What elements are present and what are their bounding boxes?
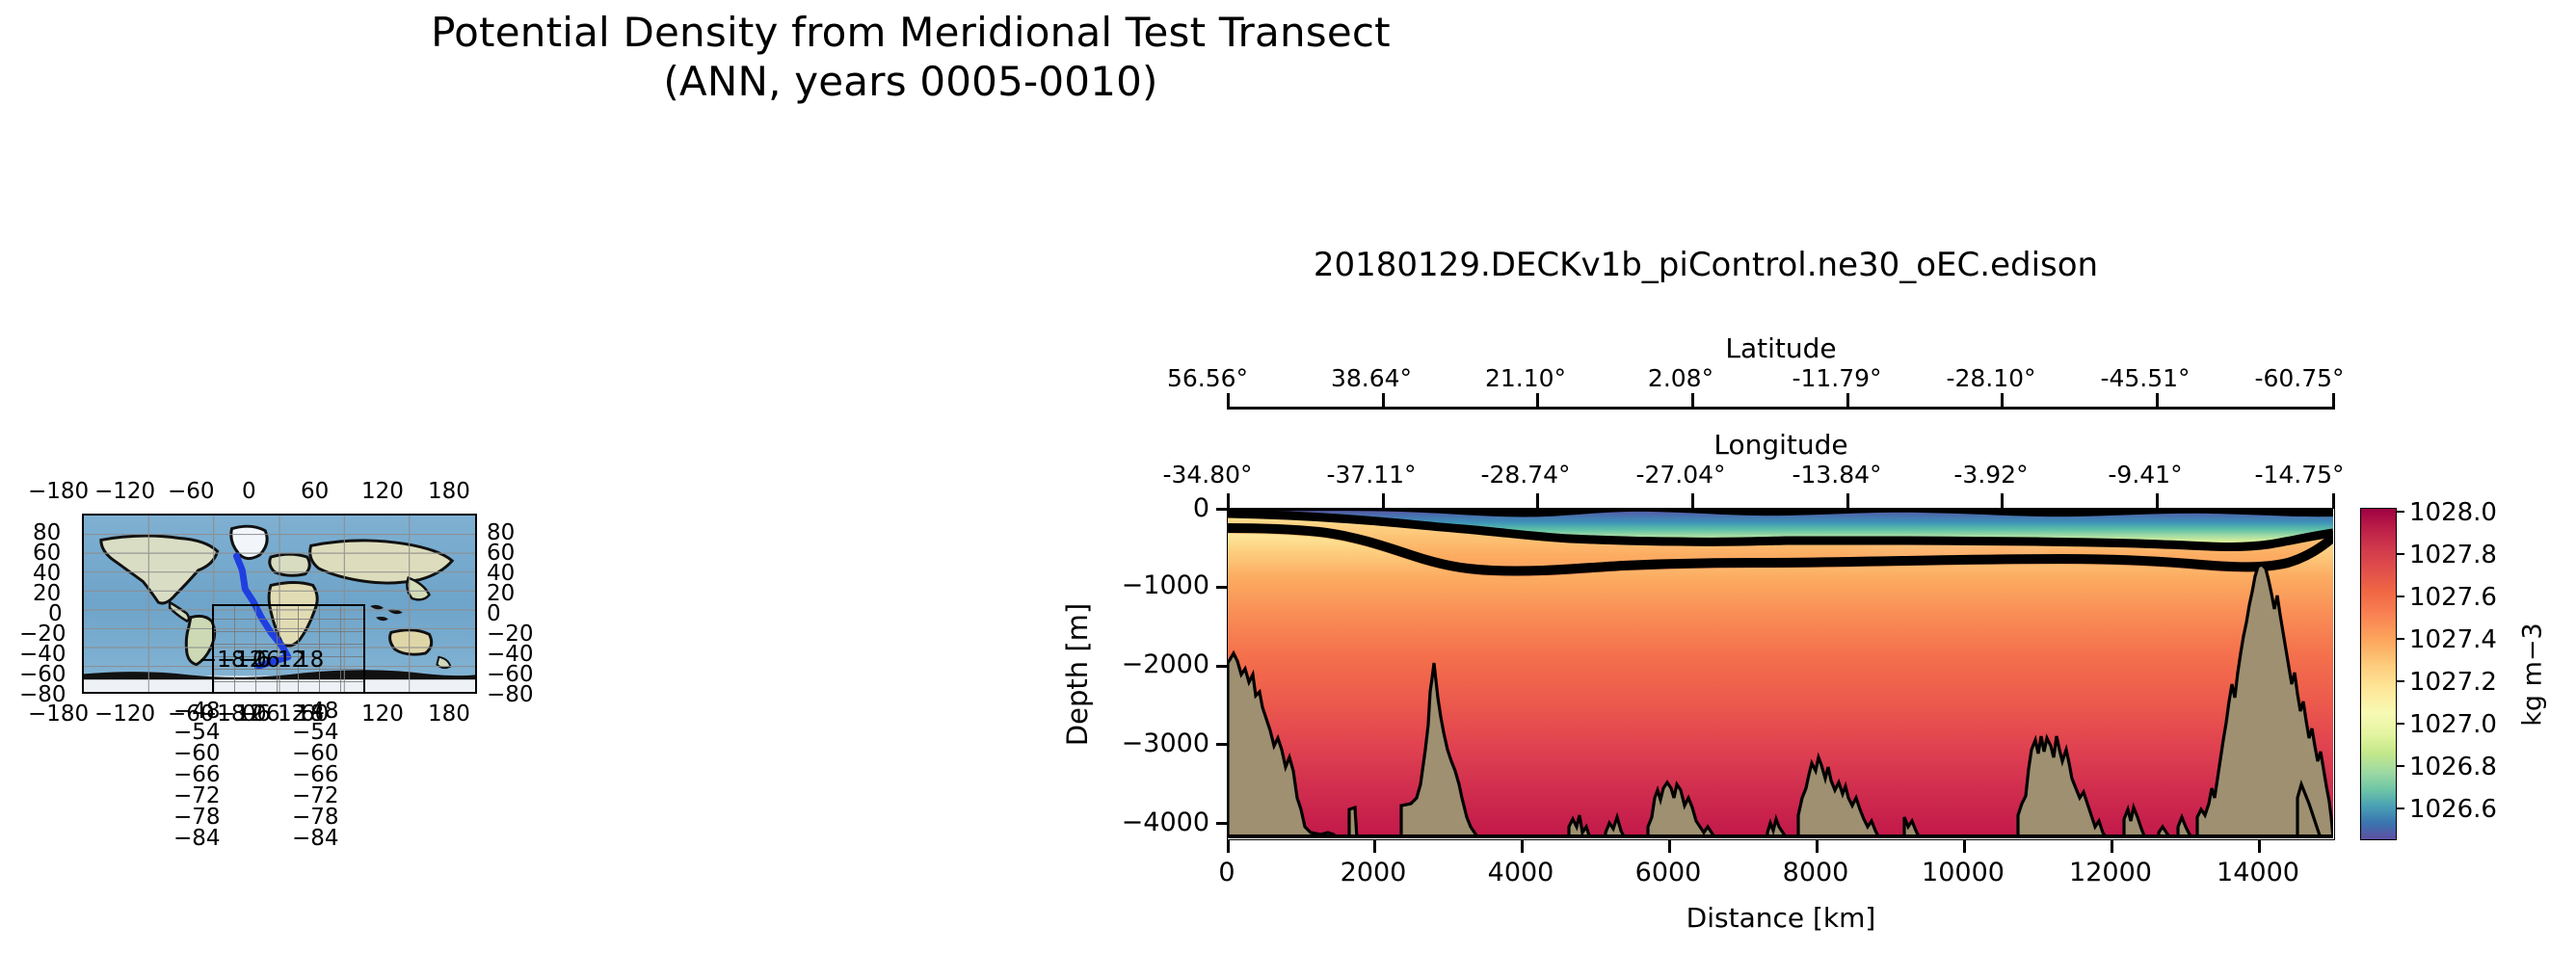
dist-tickmark-1 [1373, 840, 1376, 853]
lat-tick-2: 21.10° [1485, 364, 1566, 392]
lat-tickmark-7 [2332, 393, 2335, 407]
map-xtick-top-3: 0 [242, 479, 256, 504]
lat-tick-1: 38.64° [1331, 364, 1412, 392]
title-line-1: Potential Density from Meridional Test T… [0, 8, 1821, 57]
cbar-label-7: 1026.6 [2409, 795, 2497, 824]
dist-tick-7: 14000 [2217, 858, 2299, 887]
lon-tick-7: -14.75° [2254, 461, 2344, 489]
cbar-tickmark-5 [2397, 723, 2404, 725]
cbar-label-5: 1027.0 [2409, 710, 2497, 739]
lat-tick-3: 2.08° [1648, 364, 1713, 392]
depth-tick-0: 0 [1193, 493, 1209, 523]
lon-tick-1: -37.11° [1326, 461, 1416, 489]
lat-tick-0: 56.56° [1167, 364, 1248, 392]
depth-tick-2: −2000 [1122, 649, 1209, 679]
lat-axis-spine [1227, 407, 2335, 410]
cbar-tickmark-1 [2397, 553, 2404, 555]
density-colorbar [2360, 508, 2397, 840]
inset-xtick-top-6: 18 [296, 648, 324, 673]
lon-tickmark-1 [1382, 493, 1385, 508]
depth-axis-label: Depth [m] [1061, 603, 1094, 746]
depth-tickmark-3 [1216, 743, 1228, 746]
map-xtick-top-6: 180 [428, 479, 470, 504]
dist-tick-1: 2000 [1341, 858, 1407, 887]
map-ytick-right-8: −80 [487, 682, 534, 707]
dist-tick-5: 10000 [1922, 858, 2005, 887]
cbar-label-2: 1027.6 [2409, 583, 2497, 612]
map-xtick-top-1: −120 [94, 479, 155, 504]
cbar-tickmark-0 [2397, 511, 2404, 513]
dist-tick-2: 4000 [1488, 858, 1554, 887]
map-xtick-bottom-1: −120 [94, 702, 155, 727]
map-xtick-top-5: 120 [361, 479, 404, 504]
colorbar-unit-label: kg m−3 [2518, 622, 2548, 726]
density-section-plot [1227, 508, 2335, 840]
dist-tickmark-5 [1963, 840, 1966, 853]
lat-tickmark-3 [1691, 393, 1694, 407]
dist-tickmark-4 [1816, 840, 1819, 853]
cbar-tickmark-2 [2397, 596, 2404, 597]
title-line-2: (ANN, years 0005-0010) [0, 57, 1821, 106]
dist-tick-6: 12000 [2069, 858, 2152, 887]
lon-tick-2: -28.74° [1480, 461, 1570, 489]
dist-tick-3: 6000 [1635, 858, 1702, 887]
depth-tick-3: −3000 [1122, 728, 1209, 758]
longitude-axis-label: Longitude [1713, 429, 1847, 461]
cbar-label-6: 1026.8 [2409, 753, 2497, 781]
inset-ytick-right-6: −84 [292, 826, 339, 851]
deep-water-mass [1228, 534, 2333, 838]
lon-tickmark-3 [1691, 493, 1694, 508]
figure-root: Potential Density from Meridional Test T… [0, 0, 2576, 953]
lon-tickmark-7 [2332, 493, 2335, 508]
lon-tickmark-4 [1846, 493, 1849, 508]
section-canvas [1228, 509, 2333, 838]
lon-tickmark-0 [1227, 493, 1230, 508]
dist-tickmark-3 [1668, 840, 1671, 853]
depth-tick-4: −4000 [1122, 807, 1209, 837]
map-xtick-top-2: −60 [168, 479, 215, 504]
cbar-tickmark-3 [2397, 638, 2404, 640]
lon-tickmark-5 [2001, 493, 2004, 508]
dist-tickmark-7 [2258, 840, 2261, 853]
depth-tick-1: −1000 [1122, 570, 1209, 600]
inset-xtick-bottom-3: 0 [252, 702, 267, 727]
cbar-label-4: 1027.2 [2409, 668, 2497, 697]
cbar-tickmark-6 [2397, 765, 2404, 767]
inset-xtick-top-3: 0 [252, 648, 267, 673]
map-xtick-top-0: −180 [28, 479, 89, 504]
depth-tickmark-2 [1216, 665, 1228, 668]
page-title: Potential Density from Meridional Test T… [0, 8, 1821, 106]
distance-axis-label: Distance [km] [1686, 902, 1876, 934]
map-xtick-bottom-5: 120 [361, 702, 404, 727]
colorbar-gradient [2361, 509, 2396, 839]
inset-ytick-left-6: −84 [173, 826, 221, 851]
lon-tick-4: -13.84° [1792, 461, 1881, 489]
lat-tickmark-1 [1382, 393, 1385, 407]
cbar-label-0: 1028.0 [2409, 498, 2497, 527]
seafloor-baseline [1228, 834, 2333, 838]
lat-tickmark-0 [1227, 393, 1230, 407]
cbar-tickmark-7 [2397, 807, 2404, 809]
lon-tick-0: -34.80° [1162, 461, 1252, 489]
lat-tick-6: -45.51° [2100, 364, 2190, 392]
depth-tickmark-4 [1216, 822, 1228, 825]
lat-tick-5: -28.10° [1946, 364, 2035, 392]
dist-tickmark-6 [2111, 840, 2113, 853]
lon-tick-3: -27.04° [1635, 461, 1725, 489]
lat-tickmark-6 [2156, 393, 2159, 407]
map-xtick-bottom-6: 180 [428, 702, 470, 727]
cbar-tickmark-4 [2397, 680, 2404, 682]
cbar-label-1: 1027.8 [2409, 541, 2497, 569]
lat-tick-4: -11.79° [1792, 364, 1881, 392]
dist-tickmark-0 [1227, 840, 1230, 853]
lon-tick-6: -9.41° [2108, 461, 2182, 489]
latitude-axis-label: Latitude [1725, 332, 1836, 364]
dist-tick-4: 8000 [1783, 858, 1849, 887]
lat-tickmark-4 [1846, 393, 1849, 407]
map-ytick-left-8: −80 [19, 682, 66, 707]
lon-tickmark-6 [2156, 493, 2159, 508]
lon-tickmark-2 [1536, 493, 1539, 508]
panel-subtitle: 20180129.DECKv1b_piControl.ne30_oEC.edis… [1079, 246, 2332, 284]
depth-tickmark-0 [1216, 508, 1228, 511]
depth-tickmark-1 [1216, 586, 1228, 589]
dist-tick-0: 0 [1218, 858, 1235, 887]
lat-tick-7: -60.75° [2254, 364, 2344, 392]
lat-tickmark-2 [1536, 393, 1539, 407]
map-xtick-top-4: 60 [301, 479, 329, 504]
dist-tickmark-2 [1521, 840, 1524, 853]
lon-tick-5: -3.92° [1953, 461, 2028, 489]
cbar-label-3: 1027.4 [2409, 625, 2497, 654]
lat-tickmark-5 [2001, 393, 2004, 407]
